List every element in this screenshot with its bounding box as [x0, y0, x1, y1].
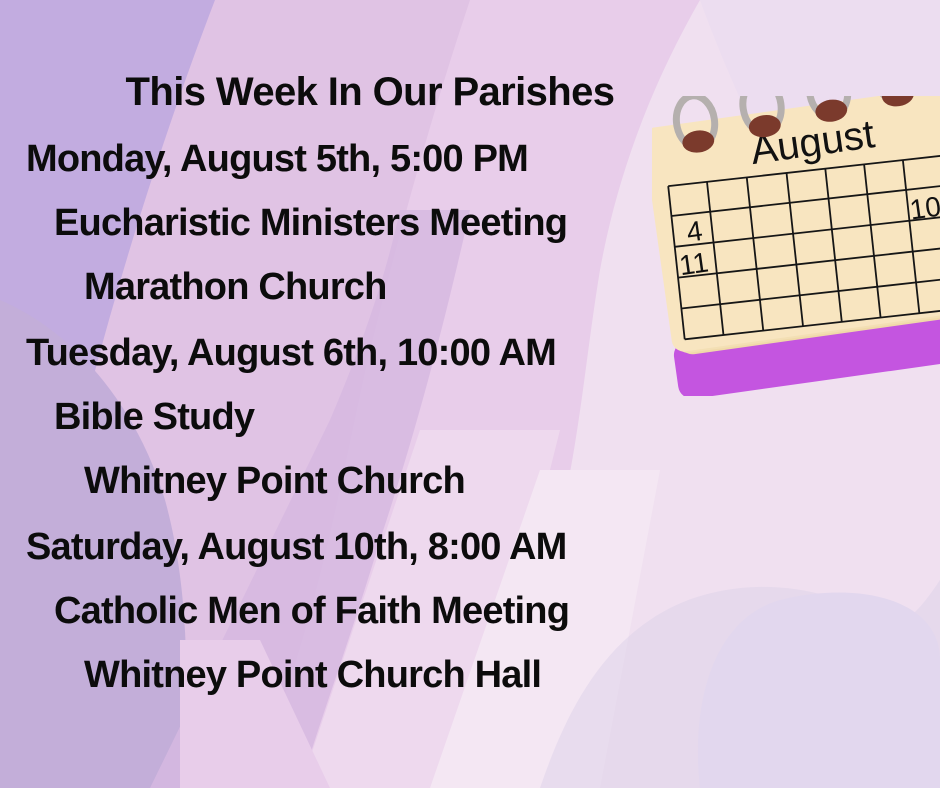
parish-bulletin-poster: August 4 11: [0, 0, 940, 788]
event-place-1: Marathon Church: [0, 242, 740, 306]
calendar-date-10: 10: [908, 191, 940, 226]
event-place-2: Whitney Point Church: [0, 436, 740, 500]
event-day-3: Saturday, August 10th, 8:00 AM: [0, 500, 740, 566]
event-name-2: Bible Study: [0, 372, 740, 436]
event-day-2: Tuesday, August 6th, 10:00 AM: [0, 306, 740, 372]
page-title: This Week In Our Parishes: [0, 0, 740, 112]
event-day-1: Monday, August 5th, 5:00 PM: [0, 112, 740, 178]
event-name-1: Eucharistic Ministers Meeting: [0, 178, 740, 242]
event-place-3: Whitney Point Church Hall: [0, 630, 740, 694]
announcement-text-block: This Week In Our Parishes Monday, August…: [0, 0, 740, 694]
event-name-3: Catholic Men of Faith Meeting: [0, 566, 740, 630]
